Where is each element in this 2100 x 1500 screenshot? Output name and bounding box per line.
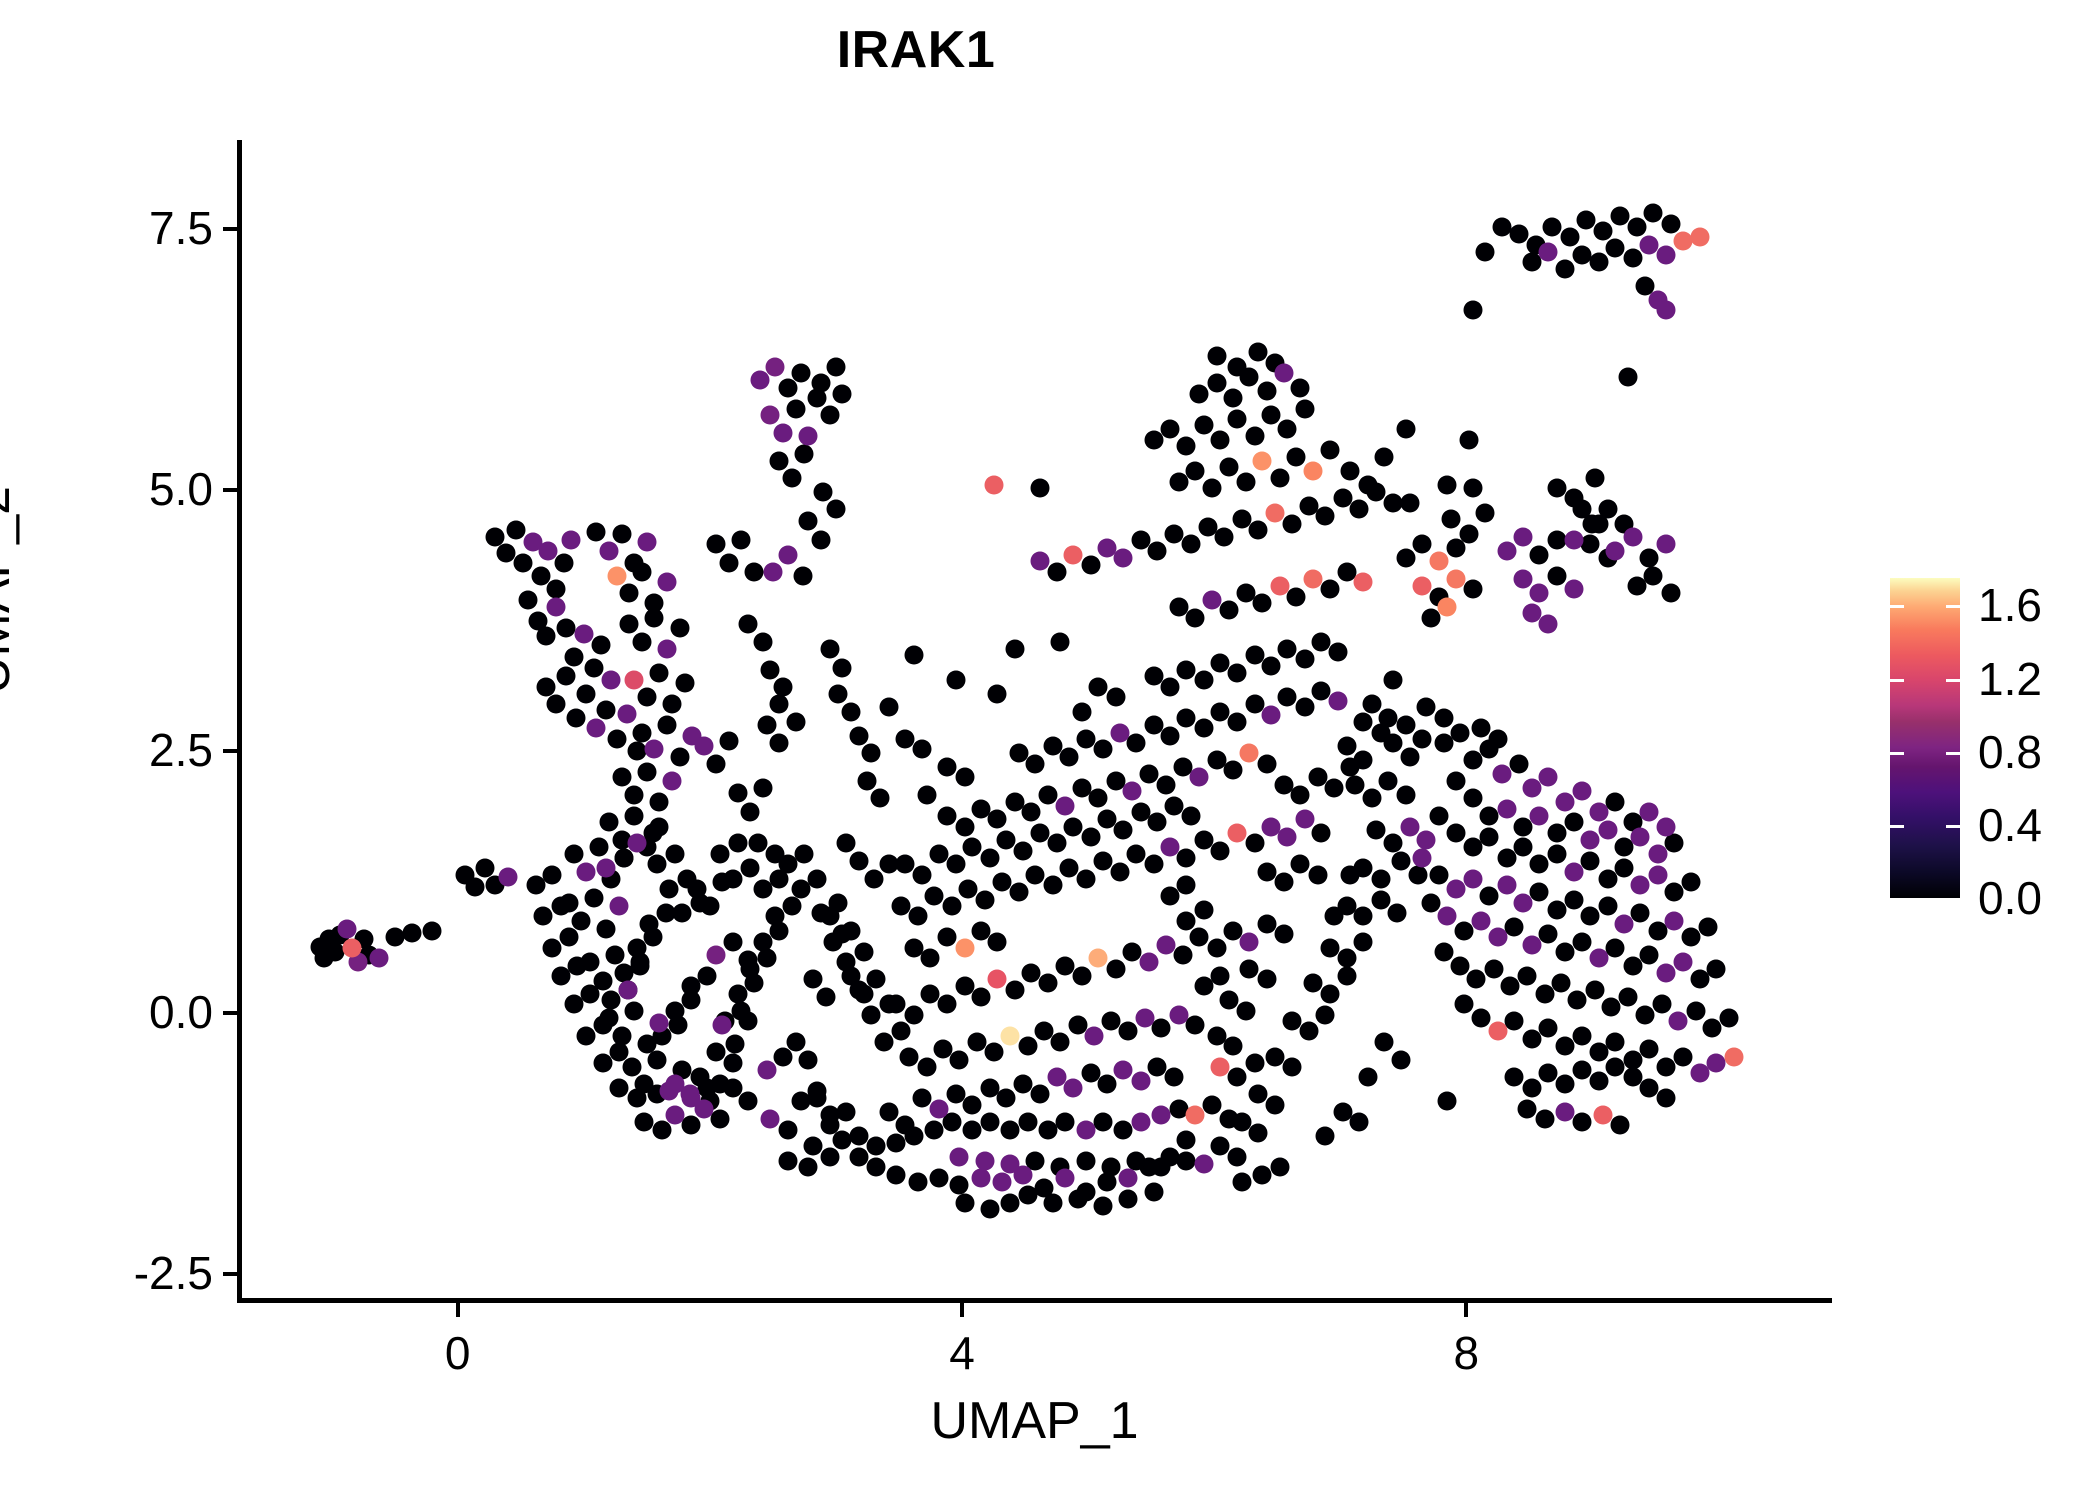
scatter-point [514, 554, 533, 573]
scatter-point [1063, 817, 1082, 836]
scatter-point [1076, 729, 1095, 748]
scatter-point [1119, 1189, 1138, 1208]
scatter-point [1186, 462, 1205, 481]
x-axis-title: UMAP_1 [237, 1395, 1832, 1447]
scatter-point [1253, 593, 1272, 612]
scatter-point [1665, 834, 1684, 853]
scatter-point [1190, 768, 1209, 787]
scatter-point [1144, 430, 1163, 449]
scatter-point [1161, 726, 1180, 745]
scatter-point [1337, 967, 1356, 986]
scatter-point [833, 658, 852, 677]
colorbar-tick-mark [1946, 752, 1960, 755]
scatter-point [917, 1057, 936, 1076]
scatter-point [1110, 862, 1129, 881]
scatter-point [1539, 242, 1558, 261]
scatter-point [1186, 1106, 1205, 1125]
scatter-point [1211, 430, 1230, 449]
scatter-point [732, 531, 751, 550]
scatter-point [955, 768, 974, 787]
scatter-point [584, 658, 603, 677]
scatter-point [905, 1126, 924, 1145]
scatter-point [644, 823, 663, 842]
scatter-point [1182, 807, 1201, 826]
scatter-point [1227, 823, 1246, 842]
scatter-point [1161, 420, 1180, 439]
scatter-point [1164, 524, 1183, 543]
scatter-point [1514, 569, 1533, 588]
scatter-point [1530, 855, 1549, 874]
scatter-point [1346, 775, 1365, 794]
y-tick-mark [223, 1272, 237, 1276]
scatter-point [826, 499, 845, 518]
scatter-point [726, 1034, 745, 1053]
scatter-point [1283, 1057, 1302, 1076]
scatter-point [905, 1005, 924, 1024]
scatter-point [975, 890, 994, 909]
scatter-point [1375, 447, 1394, 466]
scatter-point [577, 1026, 596, 1045]
scatter-point [1656, 1089, 1675, 1108]
scatter-point [1038, 786, 1057, 805]
scatter-point [1497, 799, 1516, 818]
scatter-point [1573, 1113, 1592, 1132]
scatter-point [984, 1043, 1003, 1062]
scatter-point [1177, 1131, 1196, 1150]
scatter-point [1094, 740, 1113, 759]
scatter-point [1303, 462, 1322, 481]
scatter-point [963, 838, 982, 857]
scatter-point [1287, 447, 1306, 466]
scatter-point [1278, 688, 1297, 707]
scatter-point [663, 771, 682, 790]
x-tick-label: 4 [902, 1330, 1022, 1376]
y-tick-label: 0.0 [149, 989, 213, 1035]
scatter-point [1236, 472, 1255, 491]
scatter-point [547, 695, 566, 714]
scatter-point [1258, 381, 1277, 400]
scatter-point [610, 1078, 629, 1097]
scatter-point [1413, 848, 1432, 867]
scatter-point [1265, 1047, 1284, 1066]
colorbar-tick-mark [1946, 825, 1960, 828]
scatter-point [567, 708, 586, 727]
scatter-point [1038, 974, 1057, 993]
scatter-point [1089, 677, 1108, 696]
scatter-point [1000, 1155, 1019, 1174]
scatter-point [423, 922, 442, 941]
scatter-point [632, 632, 651, 651]
scatter-point [1232, 1172, 1251, 1191]
colorbar-tick-label: 0.0 [1978, 875, 2042, 921]
scatter-point [1211, 967, 1230, 986]
scatter-point [1535, 984, 1554, 1003]
scatter-point [871, 789, 890, 808]
scatter-point [1308, 865, 1327, 884]
scatter-point [564, 648, 583, 667]
scatter-point [1362, 695, 1381, 714]
scatter-point [723, 932, 742, 951]
scatter-point [1139, 765, 1158, 784]
scatter-point [829, 893, 848, 912]
scatter-point [753, 880, 772, 899]
scatter-point [627, 1089, 646, 1108]
scatter-point [879, 1102, 898, 1121]
scatter-point [1056, 1168, 1075, 1187]
scatter-point [1442, 510, 1461, 529]
scatter-point [681, 991, 700, 1010]
scatter-point [1177, 708, 1196, 727]
scatter-point [698, 967, 717, 986]
scatter-point [1321, 984, 1340, 1003]
scatter-point [1618, 987, 1637, 1006]
scatter-point [1555, 259, 1574, 278]
scatter-point [937, 928, 956, 947]
scatter-point [1056, 1113, 1075, 1132]
scatter-point [1000, 1120, 1019, 1139]
scatter-point [617, 704, 636, 723]
scatter-point [988, 932, 1007, 951]
scatter-point [1031, 1085, 1050, 1104]
scatter-point [1207, 938, 1226, 957]
scatter-point [761, 660, 780, 679]
scatter-point [782, 897, 801, 916]
scatter-point [1396, 716, 1415, 735]
scatter-point [1303, 974, 1322, 993]
scatter-point [1573, 782, 1592, 801]
scatter-point [1132, 1113, 1151, 1132]
scatter-point [1640, 1040, 1659, 1059]
scatter-point [770, 922, 789, 941]
scatter-point [782, 468, 801, 487]
scatter-point [867, 1158, 886, 1177]
y-axis-title: UMAP_2 [0, 486, 18, 694]
scatter-point [1400, 817, 1419, 836]
scatter-point [547, 580, 566, 599]
scatter-point [808, 1081, 827, 1100]
scatter-point [1152, 1106, 1171, 1125]
scatter-point [1123, 782, 1142, 801]
scatter-point [723, 1078, 742, 1097]
scatter-point [1447, 823, 1466, 842]
scatter-point [1227, 1147, 1246, 1166]
scatter-point [1005, 639, 1024, 658]
scatter-point [1270, 577, 1289, 596]
scatter-point [984, 475, 1003, 494]
scatter-point [1514, 893, 1533, 912]
scatter-point [610, 897, 629, 916]
scatter-point [1161, 838, 1180, 857]
scatter-point [1270, 468, 1289, 487]
scatter-point [584, 888, 603, 907]
scatter-point [1505, 917, 1524, 936]
scatter-point [1290, 378, 1309, 397]
y-tick-label: 2.5 [149, 727, 213, 773]
scatter-point [1371, 890, 1390, 909]
scatter-point [824, 932, 843, 951]
scatter-point [637, 763, 656, 782]
scatter-point [1295, 399, 1314, 418]
scatter-point [1564, 489, 1583, 508]
scatter-point [1324, 778, 1343, 797]
scatter-point [741, 859, 760, 878]
scatter-point [1488, 729, 1507, 748]
scatter-point [657, 716, 676, 735]
scatter-point [1069, 1189, 1088, 1208]
scatter-point [833, 384, 852, 403]
y-tick-label: 5.0 [149, 466, 213, 512]
scatter-point [1026, 865, 1045, 884]
scatter-point [753, 778, 772, 797]
scatter-point [678, 869, 697, 888]
scatter-point [1031, 552, 1050, 571]
scatter-point [536, 627, 555, 646]
scatter-point [597, 859, 616, 878]
scatter-point [1631, 876, 1650, 895]
scatter-point [786, 713, 805, 732]
scatter-point [1505, 1068, 1524, 1087]
scatter-point [937, 758, 956, 777]
scatter-point [1114, 820, 1133, 839]
scatter-point [1328, 692, 1347, 711]
scatter-point [1119, 1168, 1138, 1187]
scatter-point [694, 737, 713, 756]
scatter-point [1438, 907, 1457, 926]
scatter-point [770, 733, 789, 752]
scatter-point [779, 545, 798, 564]
scatter-point [370, 949, 389, 968]
scatter-point [1451, 956, 1470, 975]
scatter-point [874, 1032, 893, 1051]
scatter-point [713, 1016, 732, 1035]
scatter-point [1101, 1011, 1120, 1030]
scatter-point [1396, 549, 1415, 568]
scatter-point [997, 1089, 1016, 1108]
scatter-point [587, 719, 606, 738]
scatter-point [625, 807, 644, 826]
scatter-point [728, 834, 747, 853]
scatter-point [1606, 1032, 1625, 1051]
scatter-point [656, 904, 675, 923]
scatter-point [1530, 883, 1549, 902]
scatter-point [534, 907, 553, 926]
scatter-point [647, 1050, 666, 1069]
scatter-point [669, 1016, 688, 1035]
scatter-point [1454, 922, 1473, 941]
scatter-point [1413, 729, 1432, 748]
scatter-point [993, 1172, 1012, 1191]
scatter-point [650, 792, 669, 811]
scatter-point [1043, 876, 1062, 895]
scatter-point [751, 371, 770, 390]
scatter-point [1707, 1053, 1726, 1072]
scatter-point [761, 1110, 780, 1129]
scatter-point [1643, 204, 1662, 223]
scatter-point [707, 535, 726, 554]
scatter-point [670, 747, 689, 766]
scatter-point [1076, 1120, 1095, 1139]
scatter-point [791, 1092, 810, 1111]
scatter-point [1530, 583, 1549, 602]
scatter-point [1551, 974, 1570, 993]
scatter-point [1656, 245, 1675, 264]
scatter-point [1018, 1037, 1037, 1056]
scatter-point [1656, 1057, 1675, 1076]
scatter-point [1661, 214, 1680, 233]
scatter-point [1652, 995, 1671, 1014]
scatter-point [657, 639, 676, 658]
scatter-point [757, 1061, 776, 1080]
scatter-point [1480, 886, 1499, 905]
scatter-point [1463, 789, 1482, 808]
scatter-point [937, 995, 956, 1014]
scatter-point [908, 1172, 927, 1191]
scatter-point [971, 1168, 990, 1187]
scatter-point [1144, 855, 1163, 874]
colorbar-tick-label: 1.6 [1978, 582, 2042, 628]
scatter-point [1589, 253, 1608, 272]
scatter-point [1417, 698, 1436, 717]
scatter-point [1539, 1019, 1558, 1038]
scatter-point [1101, 1158, 1120, 1177]
scatter-point [1094, 1196, 1113, 1215]
scatter-point [1555, 792, 1574, 811]
scatter-point [1328, 643, 1347, 662]
scatter-point [1707, 959, 1726, 978]
scatter-point [946, 671, 965, 690]
scatter-point [1026, 754, 1045, 773]
scatter-point [1438, 475, 1457, 494]
scatter-point [599, 813, 618, 832]
scatter-point [543, 865, 562, 884]
scatter-point [1396, 420, 1415, 439]
scatter-point [1400, 747, 1419, 766]
scatter-point [1719, 1008, 1738, 1027]
x-tick-mark [456, 1303, 460, 1317]
scatter-point [612, 524, 631, 543]
scatter-point [315, 949, 334, 968]
scatter-point [1224, 761, 1243, 780]
scatter-point [1686, 1001, 1705, 1020]
scatter-point [1258, 970, 1277, 989]
scatter-point [1434, 733, 1453, 752]
scatter-point [1274, 925, 1293, 944]
scatter-point [1459, 524, 1478, 543]
scatter-point [1114, 1120, 1133, 1139]
scatter-point [829, 684, 848, 703]
scatter-point [1669, 1011, 1688, 1030]
scatter-point [1447, 880, 1466, 899]
scatter-point [1245, 1053, 1264, 1072]
scatter-point [1560, 228, 1579, 247]
scatter-point [1261, 405, 1280, 424]
scatter-point [1240, 744, 1259, 763]
scatter-point [864, 869, 883, 888]
scatter-point [660, 880, 679, 899]
scatter-point [826, 357, 845, 376]
scatter-point [1240, 932, 1259, 951]
scatter-point [1522, 778, 1541, 797]
scatter-point [1447, 771, 1466, 790]
scatter-point [1227, 357, 1246, 376]
scatter-point [1169, 1005, 1188, 1024]
scatter-point [1388, 904, 1407, 923]
scatter-point [1454, 995, 1473, 1014]
scatter-point [1589, 1071, 1608, 1090]
scatter-point [1434, 943, 1453, 962]
scatter-point [1665, 883, 1684, 902]
scatter-point [1224, 1037, 1243, 1056]
scatter-point [665, 1106, 684, 1125]
scatter-point [1051, 632, 1070, 651]
scatter-point [1606, 792, 1625, 811]
scatter-point [552, 897, 571, 916]
scatter-point [581, 984, 600, 1003]
scatter-point [342, 938, 361, 957]
y-tick-mark [223, 1011, 237, 1015]
scatter-point [1429, 552, 1448, 571]
scatter-point [1190, 928, 1209, 947]
scatter-point [589, 838, 608, 857]
scatter-point [1463, 580, 1482, 599]
scatter-point [723, 869, 742, 888]
scatter-point [632, 723, 651, 742]
scatter-point [837, 834, 856, 853]
scatter-point [1240, 959, 1259, 978]
scatter-point [1227, 410, 1246, 429]
scatter-point [564, 844, 583, 863]
scatter-point [1580, 831, 1599, 850]
scatter-point [557, 619, 576, 638]
scatter-point [1106, 688, 1125, 707]
scatter-point [1539, 614, 1558, 633]
x-tick-mark [960, 1303, 964, 1317]
scatter-point [1514, 838, 1533, 857]
scatter-point [466, 878, 485, 897]
scatter-point [1366, 820, 1385, 839]
scatter-point [1005, 980, 1024, 999]
scatter-point [1631, 828, 1650, 847]
scatter-point [526, 876, 545, 895]
scatter-point [1295, 698, 1314, 717]
scatter-point [849, 1126, 868, 1145]
scatter-point [1589, 802, 1608, 821]
scatter-point [1674, 953, 1693, 972]
scatter-point [858, 771, 877, 790]
y-tick-label: 7.5 [149, 205, 213, 251]
scatter-point [1195, 901, 1214, 920]
scatter-point [1568, 991, 1587, 1010]
scatter-point [1245, 426, 1264, 445]
scatter-point [1643, 566, 1662, 585]
scatter-point [1202, 1095, 1221, 1114]
page-title: IRAK1 [0, 24, 1832, 76]
scatter-point [1089, 789, 1108, 808]
scatter-point [1000, 1193, 1019, 1212]
scatter-point [808, 869, 827, 888]
scatter-point [1656, 301, 1675, 320]
scatter-point [1447, 569, 1466, 588]
scatter-point [1602, 998, 1621, 1017]
scatter-point [867, 970, 886, 989]
scatter-point [1371, 869, 1390, 888]
scatter-point [1681, 872, 1700, 891]
colorbar-legend: 1.61.20.80.40.0 [1890, 578, 2080, 922]
scatter-point [763, 562, 782, 581]
scatter-point [1656, 535, 1675, 554]
scatter-point [1249, 520, 1268, 539]
scatter-point [1164, 796, 1183, 815]
